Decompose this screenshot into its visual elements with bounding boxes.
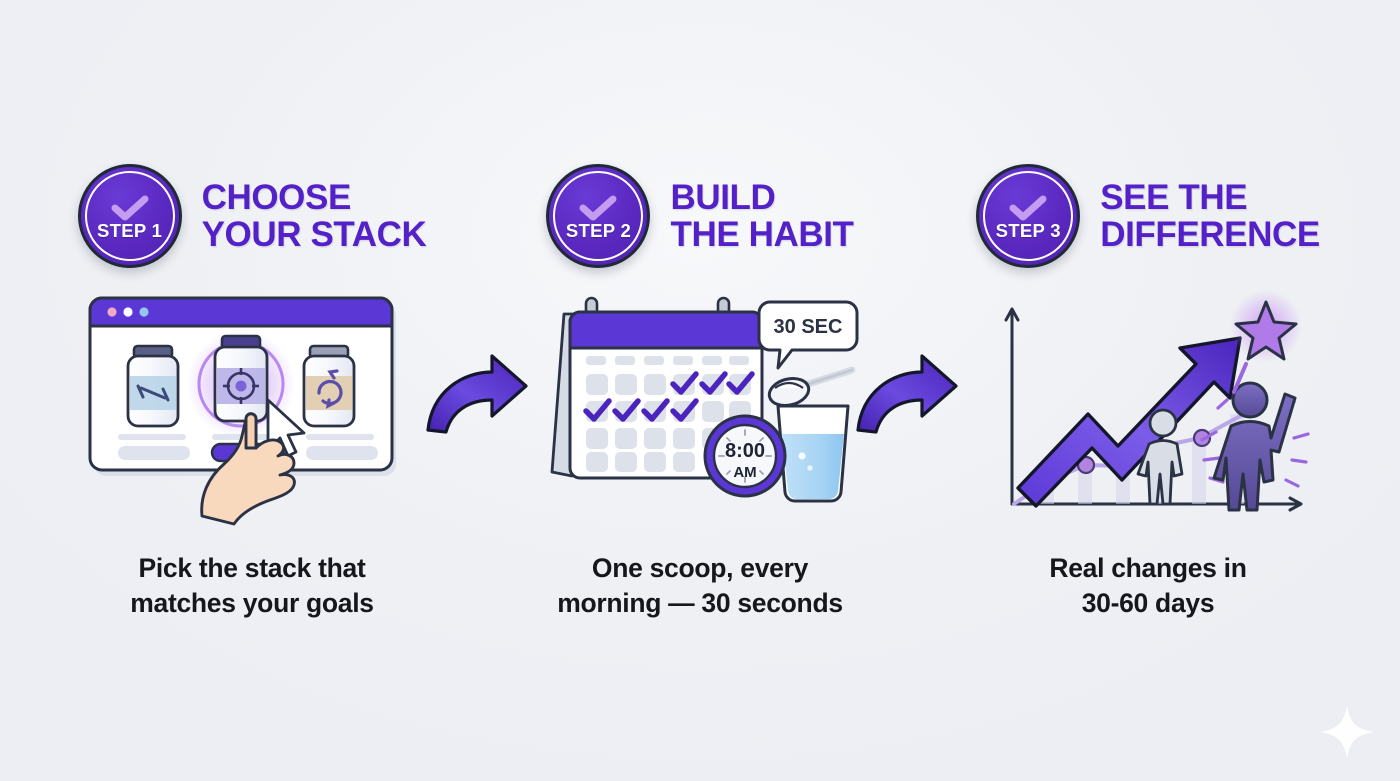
step-2-badge: STEP 2 [546,164,650,268]
step-3-badge-label: STEP 3 [996,222,1061,241]
steps-container: STEP 1 CHOOSE YOUR STACK [0,0,1400,781]
step-2-caption: One scoop, every morning — 30 seconds [557,551,843,621]
check-icon [110,195,150,221]
alarm-clock-icon: 8:00 AM [705,416,785,496]
step-1-illustration [82,288,422,533]
step-3-header: STEP 3 SEE THE DIFFERENCE [976,160,1320,272]
check-icon [578,195,618,221]
water-glass-icon [778,406,848,501]
step-3-caption: Real changes in 30-60 days [1049,551,1246,621]
window-dot-blue [139,307,148,316]
step-3-badge: STEP 3 [976,164,1080,268]
step-2-header: STEP 2 BUILD THE HABIT [546,160,853,272]
window-dot-pink [107,307,116,316]
clock-time: 8:00 [725,440,765,462]
clock-meridiem: AM [733,464,756,481]
step-2-illustration: 30 SEC [530,288,870,533]
check-icon [1008,195,1048,221]
step-column-3: STEP 3 SEE THE DIFFERENCE [948,0,1348,781]
bottle-strength [128,346,178,426]
step-1-badge-label: STEP 1 [97,222,162,241]
speech-bubble-30-sec: 30 SEC [759,302,857,368]
infographic-canvas: STEP 1 CHOOSE YOUR STACK [0,0,1400,781]
step-3-illustration [978,288,1318,533]
step-1-badge: STEP 1 [78,164,182,268]
step-column-2: STEP 2 BUILD THE HABIT [500,0,900,781]
step-1-caption: Pick the stack that matches your goals [130,551,374,621]
step-1-heading: CHOOSE YOUR STACK [202,179,427,254]
step-1-header: STEP 1 CHOOSE YOUR STACK [78,160,427,272]
bottle-recovery [304,346,354,426]
bottle-focus [215,336,267,421]
speech-bubble-text: 30 SEC [774,316,843,338]
scoop-spoon-icon [766,370,852,409]
step-column-1: STEP 1 CHOOSE YOUR STACK [52,0,452,781]
step-2-badge-label: STEP 2 [566,222,631,241]
step-2-heading: BUILD THE HABIT [670,179,853,254]
step-3-heading: SEE THE DIFFERENCE [1100,179,1320,254]
window-dot-white [123,307,132,316]
